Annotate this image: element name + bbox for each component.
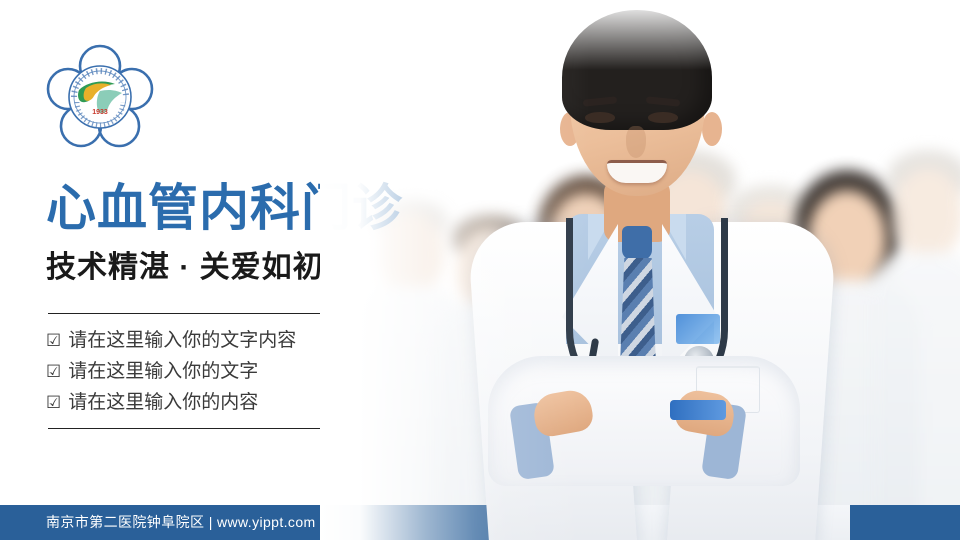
id-badge-upper [676,314,720,344]
list-item: ☑请在这里输入你的文字 [46,357,376,388]
photo-canvas [320,0,960,540]
list-item: ☑请在这里输入你的文字内容 [46,326,376,357]
doctor-team-photo [320,0,960,540]
list-item: ☑请在这里输入你的内容 [46,388,376,419]
checkbox-icon: ☑ [46,389,61,417]
checkbox-icon: ☑ [46,327,61,355]
slide-canvas: 1933 心血管内科门诊 技术精湛 · 关爱如初 ☑请在这里输入你的文字内容 ☑… [0,0,960,540]
hair [562,10,712,130]
divider-top [48,313,320,314]
smiling-mouth [607,160,667,183]
eye-left [585,112,615,123]
logo-year: 1933 [92,109,108,116]
list-item-label: 请在这里输入你的文字内容 [68,330,296,351]
background-person [868,150,960,540]
page-subtitle: 技术精湛 · 关爱如初 [46,253,324,283]
checkbox-icon: ☑ [46,358,61,386]
nose [626,126,646,158]
bullet-list: ☑请在这里输入你的文字内容 ☑请在这里输入你的文字 ☑请在这里输入你的内容 [46,326,376,418]
list-item-label: 请在这里输入你的内容 [68,392,258,413]
ear-right [702,112,722,146]
eye-right [648,112,678,123]
main-doctor-figure [470,8,830,540]
page-title: 心血管内科门诊 [46,183,403,233]
footer-label: 南京市第二医院钟阜院区 | www.yippt.com [46,505,316,540]
list-item-label: 请在这里输入你的文字 [68,361,258,382]
divider-bottom [48,428,320,429]
id-badge-lower [670,400,726,420]
hospital-logo: 1933 [46,44,154,148]
